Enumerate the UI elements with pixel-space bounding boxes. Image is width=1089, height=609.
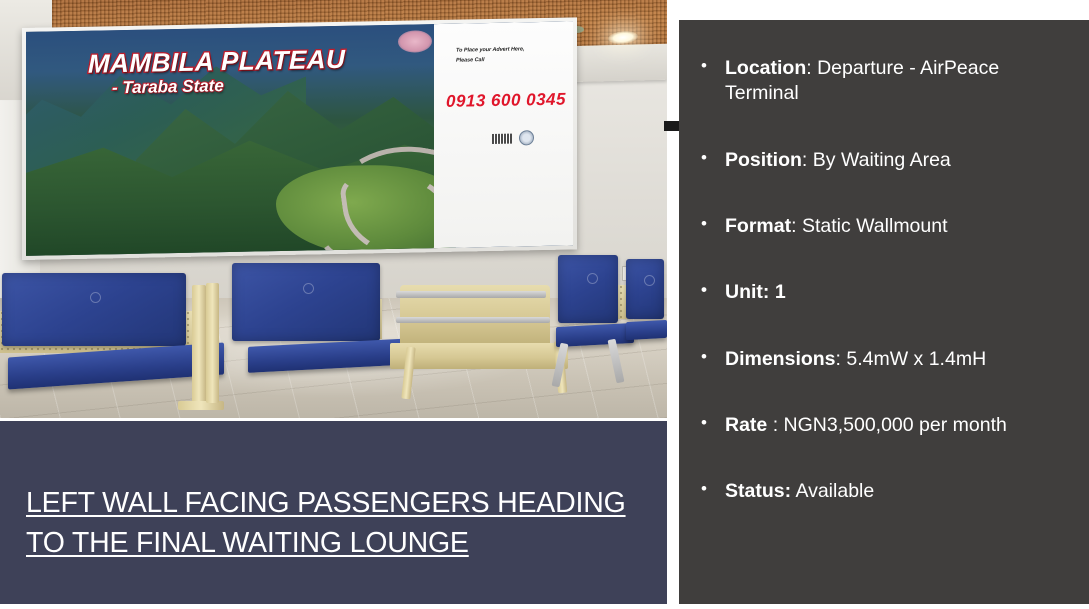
caption-heading: LEFT WALL FACING PASSENGERS HEADING TO T… <box>0 484 652 563</box>
detail-label: Format <box>725 215 791 237</box>
detail-label: Status: <box>725 480 791 502</box>
bench-leg <box>192 285 206 403</box>
billboard-title: MAMBILA PLATEAU <box>88 44 345 80</box>
location-photo: MAMBILA PLATEAU - Taraba State To Place … <box>0 0 667 418</box>
detail-separator: : <box>791 215 802 237</box>
detail-separator: : <box>773 414 784 436</box>
seat-backrest <box>232 263 380 341</box>
billboard-subtitle: - Taraba State <box>112 76 224 98</box>
seating-row <box>0 255 667 418</box>
detail-item-status: Status: Available <box>690 479 1073 504</box>
detail-item-format: Format: Static Wallmount <box>690 214 1073 239</box>
seat-backrest <box>626 259 664 319</box>
detail-value: Static Wallmount <box>802 215 948 237</box>
caption-line-2: TO THE FINAL WAITING LOUNGE <box>26 527 469 559</box>
detail-item-position: Position: By Waiting Area <box>690 148 1073 173</box>
detail-label: Rate <box>725 414 773 436</box>
detail-value: Available <box>795 480 874 502</box>
detail-item-dimensions: Dimensions: 5.4mW x 1.4mH <box>690 347 1073 372</box>
billboard-advert-panel: To Place your Advert Here, Please Call 0… <box>434 21 573 248</box>
detail-label: Unit <box>725 281 763 303</box>
detail-item-rate: Rate : NGN3,500,000 per month <box>690 413 1073 438</box>
bench-support-leg <box>608 339 625 384</box>
bench-leg <box>206 283 219 403</box>
details-bullet-list: Location: Departure - AirPeace Terminal … <box>690 56 1073 505</box>
bench-seat-beige <box>390 343 568 369</box>
panel-connector-bar <box>664 121 679 131</box>
seat-cushion <box>626 320 667 340</box>
detail-separator: : <box>763 281 775 303</box>
details-panel: Location: Departure - AirPeace Terminal … <box>679 20 1089 604</box>
seat-backrest <box>2 273 186 346</box>
bench-metal-rail <box>396 317 550 323</box>
detail-separator: : <box>806 57 817 79</box>
wallmount-billboard: MAMBILA PLATEAU - Taraba State To Place … <box>22 17 577 260</box>
advert-logos <box>492 130 534 146</box>
detail-item-unit: Unit: 1 <box>690 280 1073 305</box>
detail-separator: : <box>802 149 813 171</box>
seat-cushion <box>556 323 634 347</box>
detail-separator: : <box>836 348 847 370</box>
seat-backrest <box>558 255 618 323</box>
detail-value: NGN3,500,000 per month <box>784 414 1007 436</box>
detail-label: Position <box>725 149 802 171</box>
detail-label: Location <box>725 57 806 79</box>
detail-label: Dimensions <box>725 348 836 370</box>
circular-emblem-icon <box>519 130 534 145</box>
detail-item-location: Location: Departure - AirPeace Terminal <box>690 56 1073 107</box>
detail-value: By Waiting Area <box>813 149 951 171</box>
caption-line-1: LEFT WALL FACING PASSENGERS HEADING <box>26 487 626 519</box>
advert-phone-number: 0913 600 0345 <box>446 90 566 112</box>
advert-call-line-2: Please Call <box>456 54 566 66</box>
bench-metal-rail <box>396 291 546 298</box>
detail-value: 5.4mW x 1.4mH <box>846 348 986 370</box>
striped-logo-icon <box>492 133 512 143</box>
caption-box: LEFT WALL FACING PASSENGERS HEADING TO T… <box>0 421 667 604</box>
detail-value: 1 <box>775 281 786 303</box>
